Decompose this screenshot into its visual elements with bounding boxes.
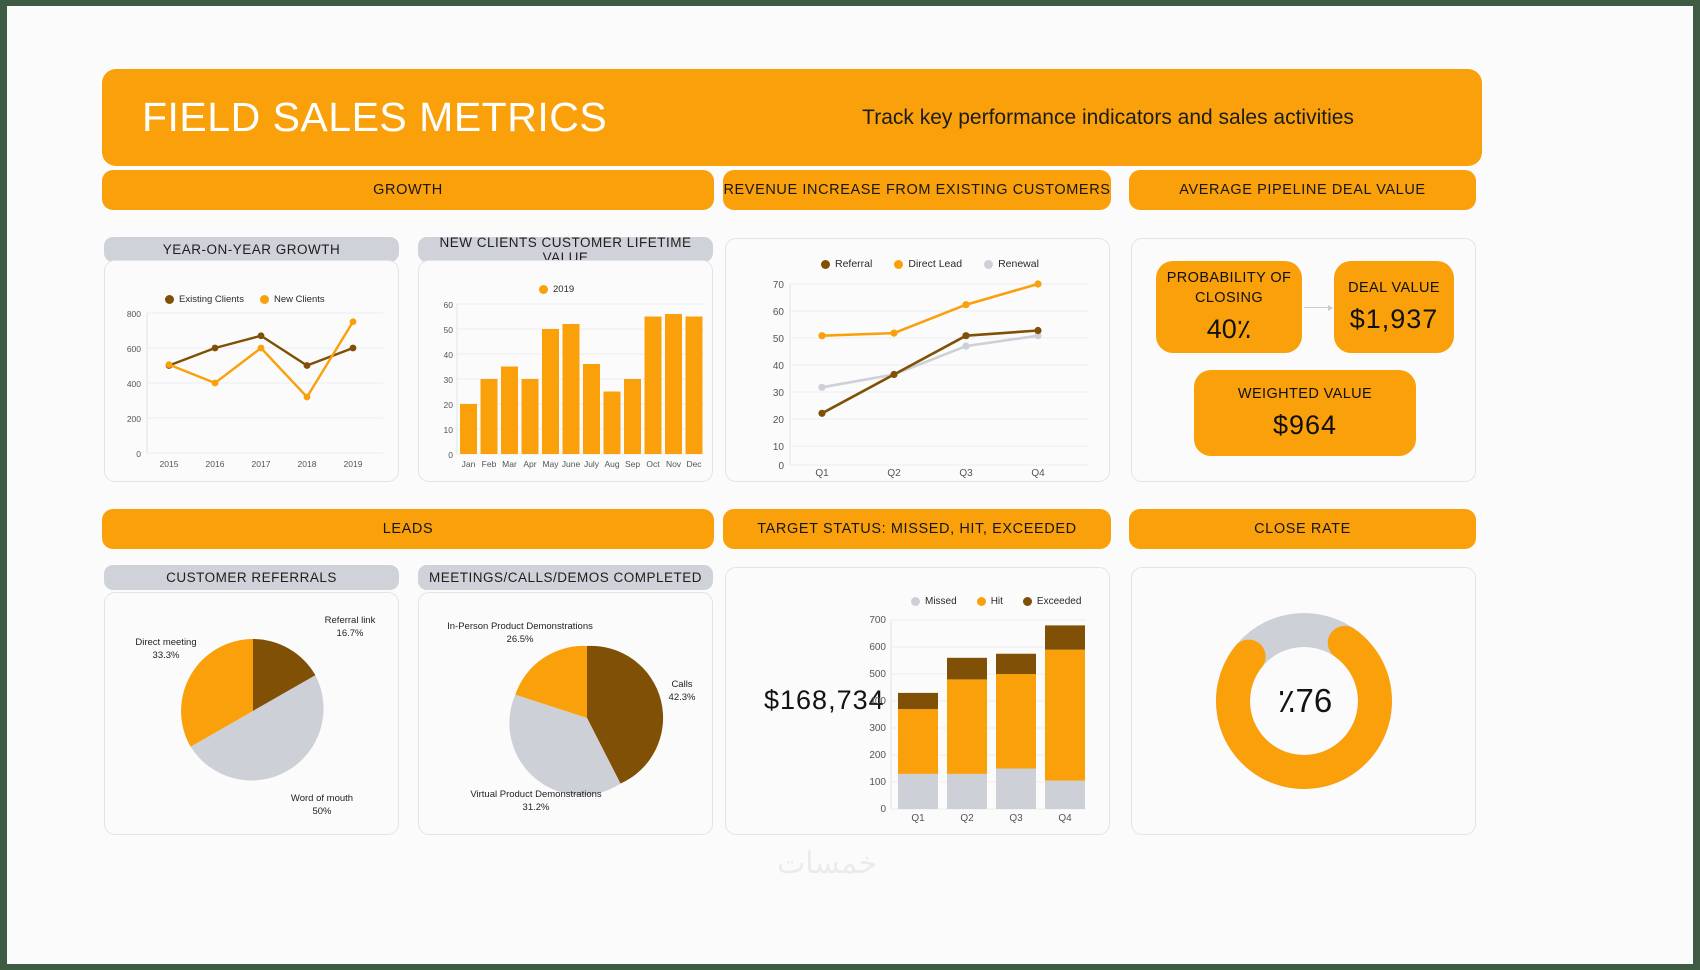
- page-title: FIELD SALES METRICS: [142, 94, 607, 141]
- bar-chart-new-clients-clv: [419, 261, 714, 483]
- pie-slice-name: Direct meeting: [135, 637, 196, 648]
- line-chart-revenue-increase: [726, 239, 1111, 483]
- pie-slice-value: 31.2%: [523, 802, 550, 813]
- dashboard-header: FIELD SALES METRICS Track key performanc…: [102, 69, 1482, 166]
- chart-panel-customer-referrals: Referral link 16.7% Direct meeting 33.3%…: [104, 592, 399, 835]
- kpi-label: PROBABILITY OF CLOSING: [1166, 269, 1292, 308]
- x-tick-label: 2019: [333, 459, 373, 469]
- x-tick-label: Q4: [1045, 813, 1085, 824]
- pie-slice-name: Referral link: [325, 615, 376, 626]
- pie-slice-value: 33.3%: [153, 650, 180, 661]
- pie-slice-value: 50%: [312, 806, 331, 817]
- x-tick-label: Q1: [802, 468, 842, 479]
- page-subtitle: Track key performance indicators and sal…: [862, 106, 1354, 130]
- pill-new-clients-clv: NEW CLIENTS CUSTOMER LIFETIME VALUE: [418, 237, 713, 262]
- banner-pipeline[interactable]: AVERAGE PIPELINE DEAL VALUE: [1129, 170, 1476, 210]
- x-tick-label: Q3: [996, 813, 1036, 824]
- pie-slice-label-referral-link: Referral link 16.7%: [285, 615, 415, 641]
- x-tick-label: Q4: [1018, 468, 1058, 479]
- x-tick-label: 2016: [195, 459, 235, 469]
- chart-panel-meetings-calls-demos: In-Person Product Demonstrations 26.5% C…: [418, 592, 713, 835]
- banner-revenue[interactable]: REVENUE INCREASE FROM EXISTING CUSTOMERS: [723, 170, 1111, 210]
- pie-slice-value: 26.5%: [507, 634, 534, 645]
- pill-meetings-calls-demos: MEETINGS/CALLS/DEMOS COMPLETED: [418, 565, 713, 590]
- banner-target-status[interactable]: TARGET STATUS: MISSED, HIT, EXCEEDED: [723, 509, 1111, 549]
- kpi-card-deal-value[interactable]: DEAL VALUE $1,937: [1334, 261, 1454, 353]
- x-tick-label: Q1: [898, 813, 938, 824]
- banner-growth[interactable]: GROWTH: [102, 170, 714, 210]
- line-chart-year-on-year-growth: [105, 261, 400, 483]
- frame-edge-left: [0, 0, 7, 970]
- banner-leads[interactable]: LEADS: [102, 509, 714, 549]
- frame-edge-bottom: [0, 964, 1700, 970]
- frame-edge-right: [1693, 0, 1700, 970]
- chart-panel-new-clients-clv: 2019 60 50 40 30 20 10 0: [418, 260, 713, 482]
- kpi-value: $1,937: [1350, 304, 1439, 335]
- chart-panel-year-on-year-growth: Existing Clients New Clients 800 600 400…: [104, 260, 399, 482]
- pie-slice-name: Calls: [671, 679, 692, 690]
- stacked-bar-chart-target-status: [726, 568, 1111, 836]
- pill-year-on-year-growth: YEAR-ON-YEAR GROWTH: [104, 237, 399, 262]
- x-tick-label: 2018: [287, 459, 327, 469]
- x-tick-label: 2017: [241, 459, 281, 469]
- close-rate-value: ٪76: [1255, 681, 1355, 720]
- pie-slice-label-in-person-demos: In-Person Product Demonstrations 26.5%: [425, 621, 615, 647]
- kpi-label: WEIGHTED VALUE: [1238, 385, 1372, 405]
- x-tick-label: Q2: [947, 813, 987, 824]
- pie-slice-value: 16.7%: [337, 628, 364, 639]
- kpi-value: $964: [1273, 410, 1337, 441]
- pie-slice-value: 42.3%: [669, 692, 696, 703]
- watermark: خمسات: [707, 846, 947, 881]
- pie-slice-name: Word of mouth: [291, 793, 353, 804]
- chart-panel-revenue-increase: Referral Direct Lead Renewal 70 60 50 40…: [725, 238, 1110, 482]
- kpi-connector-arrow-icon: [1304, 307, 1332, 308]
- banner-close-rate[interactable]: CLOSE RATE: [1129, 509, 1476, 549]
- kpi-card-probability-of-closing[interactable]: PROBABILITY OF CLOSING 40٪: [1156, 261, 1302, 353]
- x-tick-label: Dec: [680, 459, 709, 469]
- x-tick-label: Q3: [946, 468, 986, 479]
- chart-panel-pipeline-deal-value: PROBABILITY OF CLOSING 40٪ DEAL VALUE $1…: [1131, 238, 1476, 482]
- pie-slice-label-virtual-demos: Virtual Product Demonstrations 31.2%: [441, 789, 631, 815]
- chart-panel-close-rate: ٪76: [1131, 567, 1476, 835]
- pie-slice-label-word-of-mouth: Word of mouth 50%: [257, 793, 387, 819]
- dashboard-page: FIELD SALES METRICS Track key performanc…: [0, 0, 1700, 970]
- dashboard-canvas: FIELD SALES METRICS Track key performanc…: [7, 6, 1693, 964]
- pie-slice-label-direct-meeting: Direct meeting 33.3%: [101, 637, 231, 663]
- kpi-label: DEAL VALUE: [1348, 279, 1440, 299]
- x-tick-label: Q2: [874, 468, 914, 479]
- kpi-card-weighted-value[interactable]: WEIGHTED VALUE $964: [1194, 370, 1416, 456]
- pie-slice-name: Virtual Product Demonstrations: [470, 789, 601, 800]
- kpi-value: 40٪: [1207, 314, 1252, 345]
- pie-slice-label-calls: Calls 42.3%: [647, 679, 717, 705]
- pill-customer-referrals: CUSTOMER REFERRALS: [104, 565, 399, 590]
- x-tick-label: 2015: [149, 459, 189, 469]
- chart-panel-target-status: $168,734 Missed Hit Exceeded 700 600 500…: [725, 567, 1110, 835]
- pie-slice-name: In-Person Product Demonstrations: [447, 621, 593, 632]
